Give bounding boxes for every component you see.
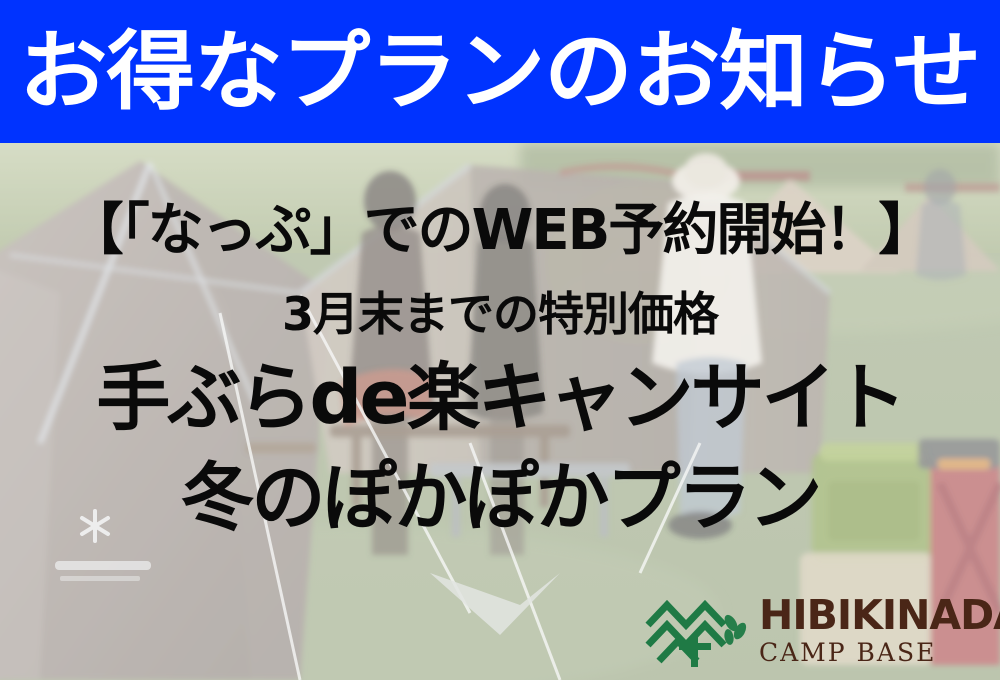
logo-brand-name: HIBIKINADA [759, 595, 1000, 636]
headline-line-4: 冬のぽかぽかプラン [0, 461, 1000, 535]
hibikinada-logo: HIBIKINADA CAMP BASE [645, 588, 985, 672]
headline-line-3: 手ぶらde楽キャンサイト [0, 361, 1000, 435]
headline-line-2: 3月末までの特別価格 [0, 291, 1000, 337]
headline-line-1: 【「なっぷ」でのWEB予約開始！】 [0, 203, 1000, 259]
logo-wordmark: HIBIKINADA CAMP BASE [759, 595, 1000, 665]
announcement-banner-text: お得なプランのお知らせ [19, 29, 980, 115]
mountain-leaf-mark [645, 591, 749, 669]
logo-tagline: CAMP BASE [759, 640, 1000, 665]
announcement-banner: お得なプランのお知らせ [0, 0, 1000, 143]
promo-poster: お得なプランのお知らせ [0, 0, 1000, 680]
